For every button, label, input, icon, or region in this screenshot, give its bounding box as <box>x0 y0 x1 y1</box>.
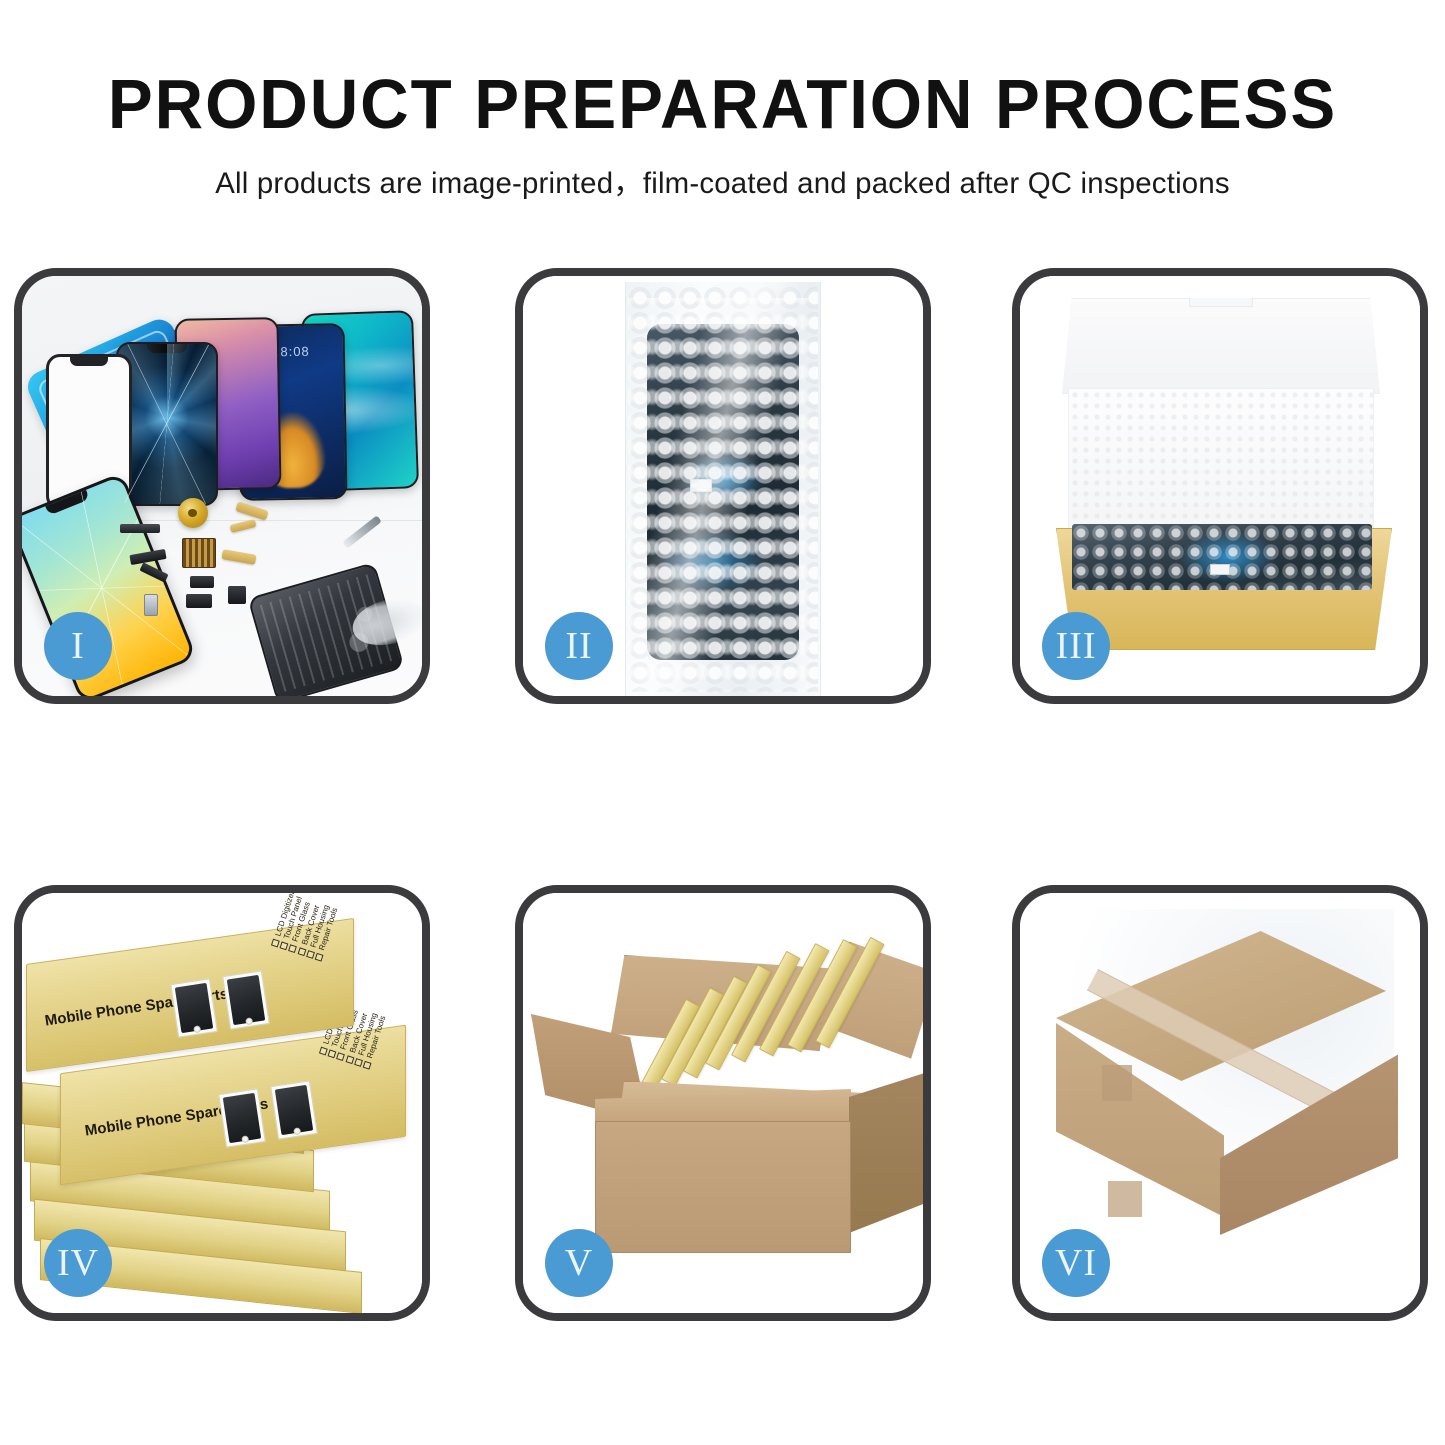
phone-cracked-display <box>116 342 218 506</box>
box-window-home-button <box>293 1127 301 1135</box>
process-row-top: 08:08 <box>0 268 1445 704</box>
box-lid <box>1062 298 1380 394</box>
box-window-home-button <box>241 1135 249 1143</box>
ic-chip-part <box>182 538 216 568</box>
process-row-bottom: Mobile Phone Spare Parts LCD Digitizer T… <box>0 885 1445 1321</box>
step-badge-3: III <box>1042 612 1110 680</box>
step-card-2[interactable]: II <box>515 268 931 704</box>
box-window-home-button <box>245 1017 253 1025</box>
box-window-lower-left <box>218 1088 266 1147</box>
box-window-lower-right <box>270 1080 318 1139</box>
infographic-page: PRODUCT PREPARATION PROCESS All products… <box>0 0 1445 1445</box>
foam-insert <box>1068 388 1374 536</box>
step-card-1[interactable]: 08:08 <box>14 268 430 704</box>
glass-notch <box>70 356 108 366</box>
step-badge-4: IV <box>44 1229 112 1297</box>
header: PRODUCT PREPARATION PROCESS All products… <box>0 68 1445 202</box>
packing-tape-corner-lower <box>1108 1181 1142 1217</box>
earpiece-part <box>120 524 160 533</box>
step-badge-1: I <box>44 612 112 680</box>
product-sticker <box>1210 564 1230 575</box>
box-window-upper-left <box>170 978 218 1037</box>
step-badge-5: V <box>545 1229 613 1297</box>
box-window-upper-right <box>222 970 270 1029</box>
step-badge-2: II <box>545 612 613 680</box>
wrapped-product-in-box <box>1072 524 1372 590</box>
box-window-home-button <box>193 1025 201 1033</box>
step-card-3[interactable]: III <box>1012 268 1428 704</box>
carton-front-panel <box>595 1121 851 1253</box>
step-card-6[interactable]: VI <box>1012 885 1428 1321</box>
camera-module-part <box>228 586 246 604</box>
speaker-part <box>186 594 212 608</box>
page-subtitle: All products are image-printed，film-coat… <box>14 158 1430 202</box>
step-card-4[interactable]: Mobile Phone Spare Parts LCD Digitizer T… <box>14 885 430 1321</box>
page-title: PRODUCT PREPARATION PROCESS <box>29 68 1416 142</box>
crack-overlay <box>118 344 216 504</box>
step-badge-6: VI <box>1042 1229 1110 1297</box>
product-sticker <box>690 479 712 492</box>
step-card-5[interactable]: V <box>515 885 931 1321</box>
bubble-pattern <box>1072 524 1372 590</box>
connector-part <box>190 576 214 588</box>
sim-tray-part <box>144 594 158 616</box>
wrapped-screen-product <box>647 324 799 660</box>
protective-film-highlight <box>659 532 765 592</box>
packing-tape-corner-upper <box>1102 1065 1132 1101</box>
